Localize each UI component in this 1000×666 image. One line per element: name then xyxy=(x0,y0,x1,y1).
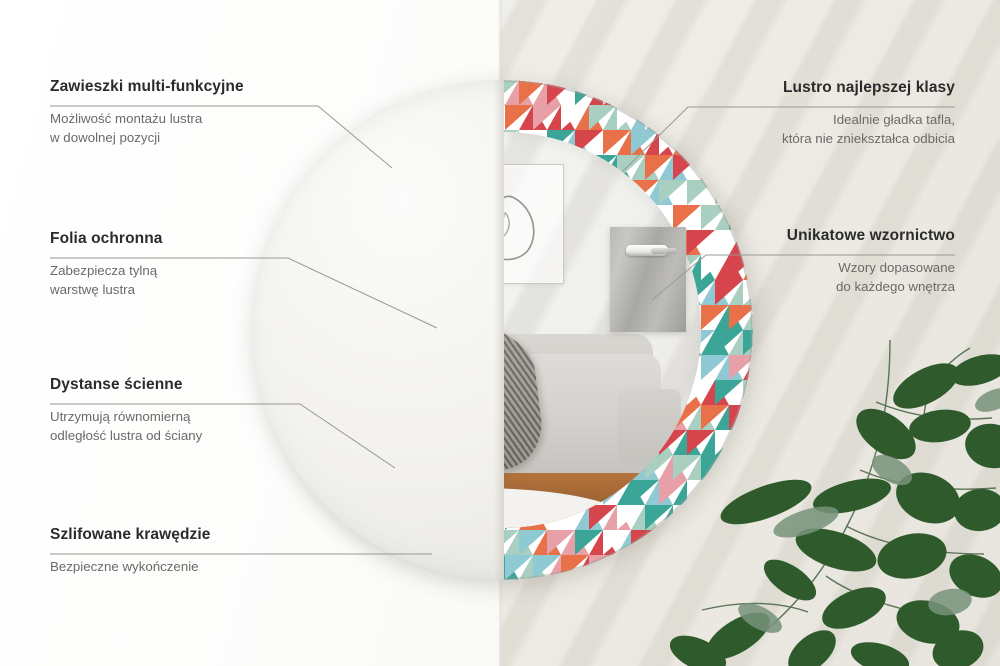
callout-title: Folia ochronna xyxy=(50,230,163,249)
callout-title: Zawieszki multi-funkcyjne xyxy=(50,78,244,97)
callout-top-class-mirror: Lustro najlepszej klasy Idealnie gładka … xyxy=(782,79,955,148)
callout-body: Utrzymują równomierną odległość lustra o… xyxy=(50,407,202,446)
callout-body: Bezpieczne wykończenie xyxy=(50,557,211,576)
callout-hangers: Zawieszki multi-funkcyjne Możliwość mont… xyxy=(50,78,244,147)
callout-title: Szlifowane krawędzie xyxy=(50,526,211,545)
callout-ground-edges: Szlifowane krawędzie Bezpieczne wykończe… xyxy=(50,526,211,576)
eucalyptus-branch xyxy=(640,330,1000,666)
callout-body: Możliwość montażu lustra w dowolnej pozy… xyxy=(50,109,244,148)
mirror-back-surface xyxy=(253,80,504,580)
leaves-illustration xyxy=(640,330,1000,666)
callout-title: Dystanse ścienne xyxy=(50,376,202,395)
callout-body: Idealnie gładka tafla, która nie znieksz… xyxy=(782,110,955,149)
hanger-slot-shadow xyxy=(651,248,677,254)
infographic-canvas: Zawieszki multi-funkcyjne Możliwość mont… xyxy=(0,0,1000,666)
hanger-plate xyxy=(610,227,686,332)
callout-protective-foil: Folia ochronna Zabezpiecza tylną warstwę… xyxy=(50,230,163,299)
mirror-back-edge-shade xyxy=(494,80,504,580)
callout-title: Unikatowe wzornictwo xyxy=(787,227,955,246)
mirror-back-face xyxy=(253,80,504,580)
callout-unique-design: Unikatowe wzornictwo Wzory dopasowane do… xyxy=(787,227,955,296)
callout-title: Lustro najlepszej klasy xyxy=(782,79,955,98)
callout-body: Zabezpiecza tylną warstwę lustra xyxy=(50,261,163,300)
callout-wall-spacers: Dystanse ścienne Utrzymują równomierną o… xyxy=(50,376,202,445)
callout-body: Wzory dopasowane do każdego wnętrza xyxy=(787,258,955,297)
